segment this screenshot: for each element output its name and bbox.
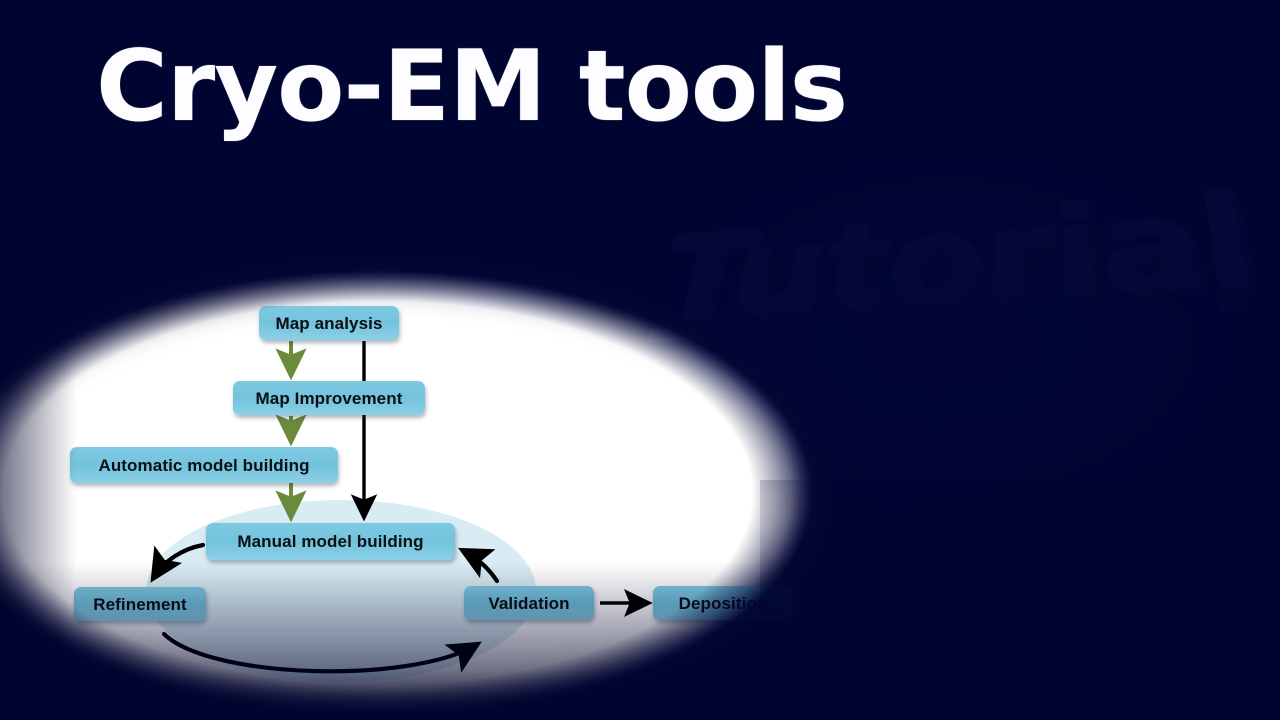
node-manual-model-building-label: Manual model building xyxy=(237,533,423,550)
node-automatic-model-building[interactable]: Automatic model building xyxy=(70,447,338,483)
node-deposition[interactable]: Deposition xyxy=(653,586,793,620)
node-refinement-label: Refinement xyxy=(93,596,187,613)
node-map-analysis[interactable]: Map analysis xyxy=(259,306,399,340)
edge-manual-model-to-refinement xyxy=(154,545,203,577)
node-automatic-model-building-label: Automatic model building xyxy=(98,457,309,474)
node-map-analysis-label: Map analysis xyxy=(275,315,382,332)
node-validation-label: Validation xyxy=(488,595,569,612)
node-validation[interactable]: Validation xyxy=(464,586,594,620)
slide-canvas: Tutorial Tutorial xyxy=(0,0,1280,720)
node-map-improvement[interactable]: Map Improvement xyxy=(233,381,425,415)
node-manual-model-building[interactable]: Manual model building xyxy=(206,523,455,560)
node-deposition-label: Deposition xyxy=(679,595,768,612)
node-refinement[interactable]: Refinement xyxy=(74,587,206,621)
edge-validation-to-manual-model xyxy=(464,551,497,581)
edge-refinement-to-validation xyxy=(164,634,476,671)
node-map-improvement-label: Map Improvement xyxy=(256,390,403,407)
page-title: Cryo-EM tools xyxy=(96,38,847,136)
